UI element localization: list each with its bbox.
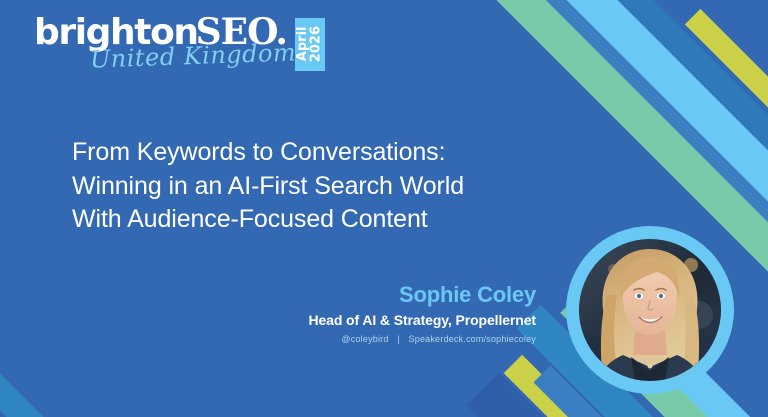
logo-date-badge-label: April 2026	[296, 26, 323, 62]
stripe-bottom-left	[0, 299, 159, 417]
stripe-top-right-dark	[504, 0, 768, 198]
brightonseo-logo: brighton SEO. United Kingdom April 2026	[34, 14, 325, 71]
logo-wordmark-stack: brighton SEO. United Kingdom	[34, 14, 287, 51]
avatar-portrait-illustration	[579, 239, 721, 381]
speaker-role: Head of AI & Strategy, Propellernet	[206, 312, 536, 328]
speaker-deck-url[interactable]: Speakerdeck.com/sophiecoley	[409, 334, 536, 344]
logo-date-badge: April 2026	[295, 18, 325, 71]
speaker-links: @coleybird | Speakerdeck.com/sophiecoley	[206, 334, 536, 344]
speaker-name: Sophie Coley	[206, 282, 536, 308]
avatar	[579, 239, 721, 381]
talk-title: From Keywords to Conversations: Winning …	[72, 136, 542, 237]
logo-script-united-kingdom: United Kingdom	[90, 38, 297, 73]
speaker-info: Sophie Coley Head of AI & Strategy, Prop…	[206, 282, 536, 344]
presentation-slide: brighton SEO. United Kingdom April 2026 …	[0, 0, 768, 417]
avatar-ring	[566, 226, 734, 394]
stripe-yellow-upper	[685, 9, 768, 201]
speaker-links-separator: |	[397, 334, 400, 344]
speaker-handle: @coleybird	[341, 334, 388, 344]
